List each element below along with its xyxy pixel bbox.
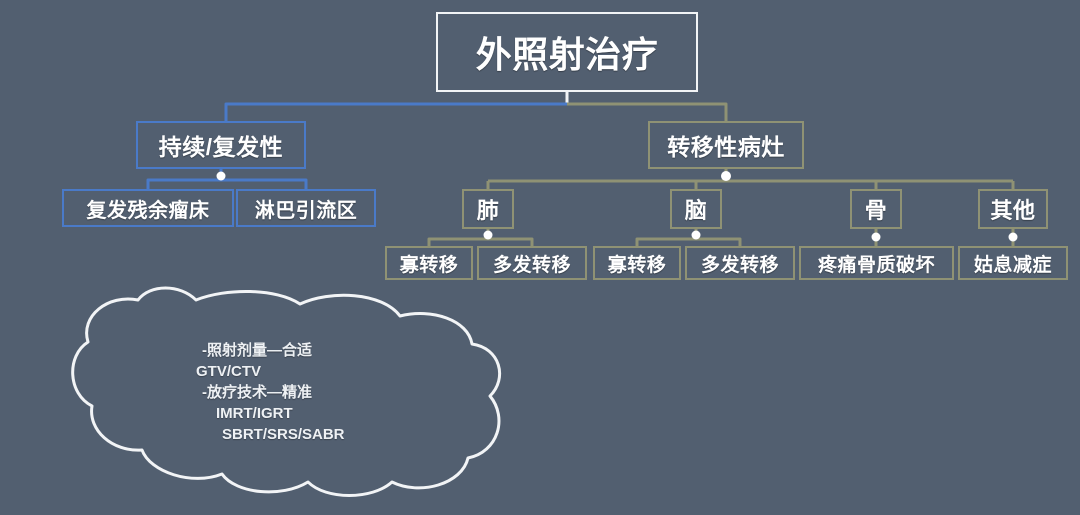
node-bone[interactable]: 骨 — [850, 189, 902, 229]
node-other[interactable]: 其他 — [978, 189, 1048, 229]
cloud-line-technique: -放疗技术—精准 — [196, 382, 456, 403]
cloud-text-block: -照射剂量—合适 GTV/CTV -放疗技术—精准 IMRT/IGRT SBRT… — [196, 340, 456, 445]
node-recurrent-residual-tumor-bed[interactable]: 复发残余瘤床 — [62, 189, 234, 227]
connector-dot-metastatic — [721, 171, 731, 181]
cloud-line-dose: -照射剂量—合适 — [196, 340, 456, 361]
connector-dot-brain — [692, 231, 701, 240]
connector-title-to-metastatic — [567, 104, 726, 121]
node-lung-oligometastasis[interactable]: 寡转移 — [385, 246, 473, 280]
connector-dot-bone — [872, 233, 881, 242]
connector-lung-to-oligo — [429, 229, 488, 246]
cloud-line-gtv-ctv: GTV/CTV — [196, 361, 456, 382]
connector-dot-persistent — [217, 172, 226, 181]
node-lymphatic-drainage-area[interactable]: 淋巴引流区 — [236, 189, 376, 227]
node-title[interactable]: 外照射治疗 — [436, 12, 698, 92]
node-brain-multiple-metastasis[interactable]: 多发转移 — [685, 246, 795, 280]
cloud-line-imrt-igrt: IMRT/IGRT — [196, 403, 456, 424]
connector-dot-lung — [484, 231, 493, 240]
node-brain-oligometastasis[interactable]: 寡转移 — [593, 246, 681, 280]
connector-title-to-persistent — [226, 104, 567, 121]
connector-brain-to-multi — [696, 239, 740, 246]
node-persistent-recurrent[interactable]: 持续/复发性 — [136, 121, 306, 169]
connector-persistent-to-bed — [148, 169, 221, 189]
node-brain[interactable]: 脑 — [670, 189, 722, 229]
node-lung-multiple-metastasis[interactable]: 多发转移 — [477, 246, 587, 280]
connector-lung-to-multi — [488, 239, 532, 246]
node-palliative-symptom-relief[interactable]: 姑息减症 — [958, 246, 1068, 280]
connector-brain-to-oligo — [637, 229, 696, 246]
connector-persistent-to-lymph — [221, 180, 306, 189]
connector-dot-other — [1009, 233, 1018, 242]
node-lung[interactable]: 肺 — [462, 189, 514, 229]
node-painful-bone-destruction[interactable]: 疼痛骨质破坏 — [799, 246, 954, 280]
node-metastatic-lesion[interactable]: 转移性病灶 — [648, 121, 804, 169]
cloud-line-sbrt-srs-sabr: SBRT/SRS/SABR — [196, 424, 456, 445]
